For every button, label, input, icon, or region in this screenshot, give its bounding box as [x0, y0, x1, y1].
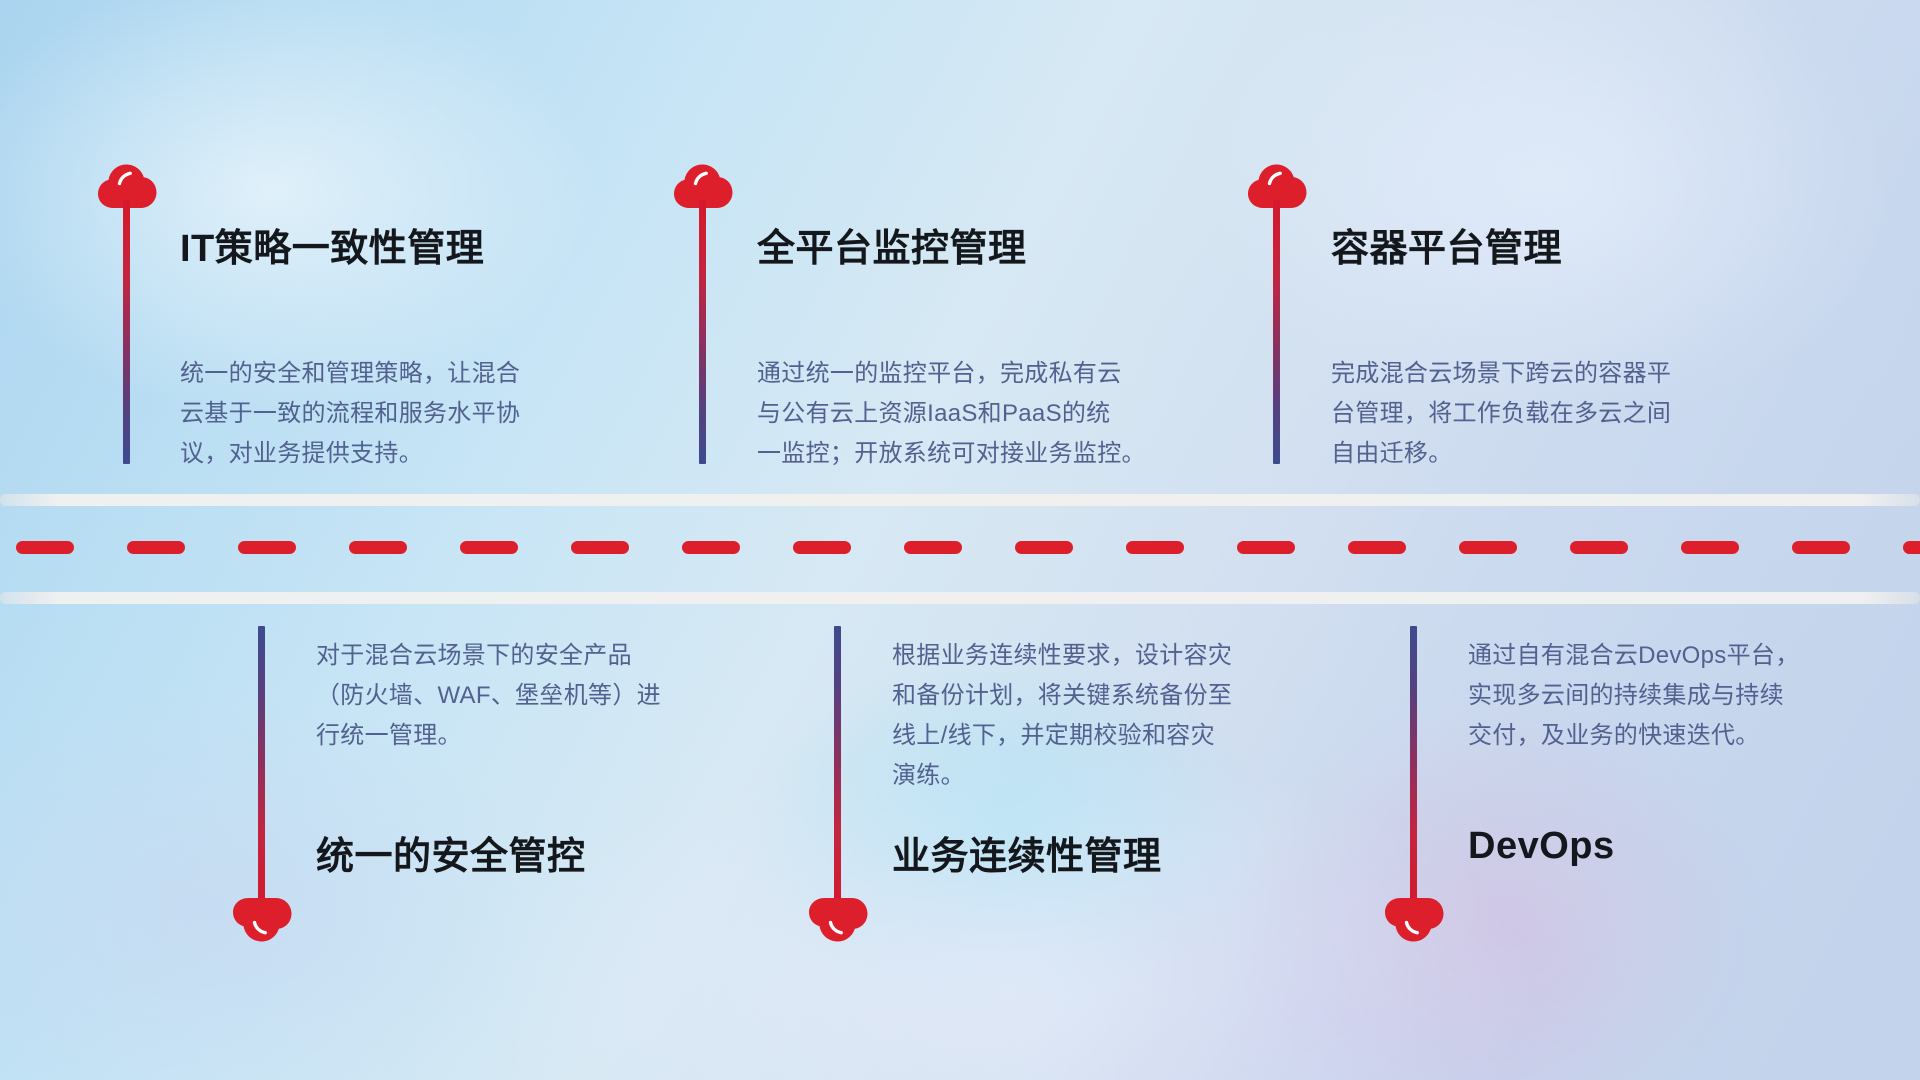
pin-stem — [834, 626, 841, 914]
dash-segment — [238, 541, 296, 554]
cloud-icon — [807, 897, 869, 947]
card-title: 统一的安全管控 — [316, 825, 586, 880]
dash-segment — [16, 541, 74, 554]
dash-segment — [682, 541, 740, 554]
card-description: 通过统一的监控平台，完成私有云 与公有云上资源IaaS和PaaS的统 一监控；开… — [757, 354, 1217, 474]
card-title: 全平台监控管理 — [757, 217, 1027, 272]
card-description: 对于混合云场景下的安全产品 （防火墙、WAF、堡垒机等）进 行统一管理。 — [316, 636, 756, 756]
dash-segment — [1681, 541, 1739, 554]
dash-segment — [1459, 541, 1517, 554]
pin-stem — [1273, 200, 1280, 464]
card-title: IT策略一致性管理 — [180, 217, 484, 272]
dash-segment — [1570, 541, 1628, 554]
pin-stem — [258, 626, 265, 914]
cloud-icon — [231, 897, 293, 947]
cloud-icon — [1383, 897, 1445, 947]
dash-segment — [1126, 541, 1184, 554]
card-description: 完成混合云场景下跨云的容器平 台管理，将工作负载在多云之间 自由迁移。 — [1331, 354, 1781, 474]
dash-segment — [1015, 541, 1073, 554]
card-title: 容器平台管理 — [1331, 217, 1562, 272]
dash-segment — [1792, 541, 1850, 554]
card-description: 统一的安全和管理策略，让混合 云基于一致的流程和服务水平协 议，对业务提供支持。 — [180, 354, 620, 474]
dash-segment — [1348, 541, 1406, 554]
dash-segment — [793, 541, 851, 554]
pin-stem — [699, 200, 706, 464]
red-dashed-road-line — [0, 541, 1920, 555]
card-title: DevOps — [1468, 825, 1615, 868]
card-description: 根据业务连续性要求，设计容灾 和备份计划，将关键系统备份至 线上/线下，并定期校… — [892, 636, 1332, 796]
upper-white-rail — [0, 494, 1920, 506]
dash-segment — [904, 541, 962, 554]
dash-segment — [1903, 541, 1920, 554]
pin-stem — [1410, 626, 1417, 914]
dash-segment — [349, 541, 407, 554]
dash-segment — [1237, 541, 1295, 554]
card-title: 业务连续性管理 — [892, 825, 1162, 880]
lower-white-rail — [0, 592, 1920, 604]
card-description: 通过自有混合云DevOps平台， 实现多云间的持续集成与持续 交付，及业务的快速… — [1468, 636, 1908, 756]
pin-stem — [123, 200, 130, 464]
dash-segment — [571, 541, 629, 554]
dash-segment — [127, 541, 185, 554]
dash-segment — [460, 541, 518, 554]
infographic-canvas: IT策略一致性管理 统一的安全和管理策略，让混合 云基于一致的流程和服务水平协 … — [0, 0, 1920, 1080]
